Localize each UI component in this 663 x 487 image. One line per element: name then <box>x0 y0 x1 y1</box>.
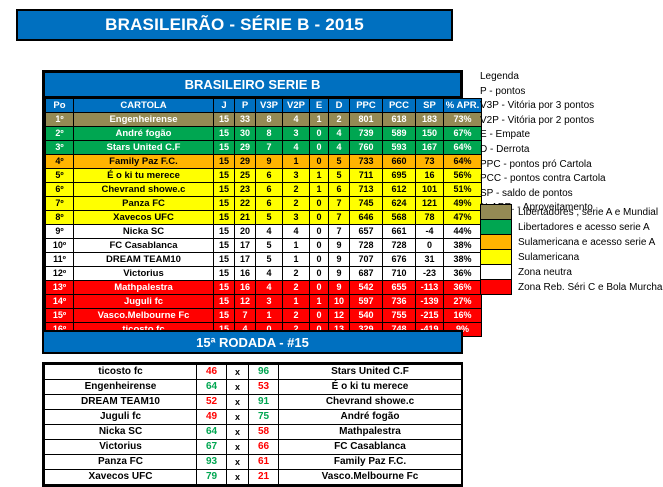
legend-color-swatch <box>481 220 512 235</box>
standings-cell-apr: 64% <box>444 155 482 169</box>
standings-cell-v3p: 4 <box>256 281 283 295</box>
legend-line: SP - saldo de pontos <box>480 187 660 202</box>
standings-cell-ppc: 733 <box>350 155 383 169</box>
standings-cell-sp: 183 <box>416 113 444 127</box>
standings-col-header: V2P <box>283 99 310 113</box>
standings-cell-v3p: 3 <box>256 295 283 309</box>
standings-cell-d: 4 <box>329 127 350 141</box>
standings-cell-ppc: 687 <box>350 267 383 281</box>
match-home-score: 52 <box>197 395 227 410</box>
standings-cell-pos: 1º <box>46 113 74 127</box>
legend-color-swatch <box>481 280 512 295</box>
standings-cell-apr: 73% <box>444 113 482 127</box>
legend-line: PPC - pontos pró Cartola <box>480 158 660 173</box>
table-row: 15ºVasco.Melbourne Fc15712012540755-2151… <box>46 309 482 323</box>
standings-cell-team: Victorius <box>74 267 214 281</box>
standings-cell-pos: 7º <box>46 197 74 211</box>
standings-cell-p: 33 <box>235 113 256 127</box>
standings-cell-j: 15 <box>214 183 235 197</box>
table-row: 9ºNicka SC15204407657661-444% <box>46 225 482 239</box>
standings-cell-team: Chevrand showe.c <box>74 183 214 197</box>
legend-key-row: Sulamericana e acesso serie A <box>481 235 663 250</box>
standings-cell-e: 1 <box>310 295 329 309</box>
standings-cell-pcc: 568 <box>383 211 416 225</box>
standings-cell-p: 29 <box>235 155 256 169</box>
standings-cell-p: 29 <box>235 141 256 155</box>
standings-cell-p: 7 <box>235 309 256 323</box>
match-home-score: 67 <box>197 440 227 455</box>
standings-cell-pcc: 695 <box>383 169 416 183</box>
round-banner: 15ª RODADA - #15 <box>42 330 463 354</box>
standings-cell-v2p: 2 <box>283 281 310 295</box>
match-home-team: Panza FC <box>45 455 197 470</box>
match-away-team: É o ki tu merece <box>279 380 462 395</box>
standings-cell-v3p: 6 <box>256 169 283 183</box>
legend-color-swatch <box>481 205 512 220</box>
standings-cell-d: 5 <box>329 155 350 169</box>
standings-cell-d: 7 <box>329 225 350 239</box>
standings-body: 1ºEngenheirense1533841280161818373%2ºAnd… <box>46 113 482 337</box>
standings-cell-e: 0 <box>310 141 329 155</box>
standings-cell-team: Xavecos UFC <box>74 211 214 225</box>
standings-cell-j: 15 <box>214 239 235 253</box>
match-away-score: 61 <box>249 455 279 470</box>
standings-cell-v3p: 5 <box>256 211 283 225</box>
standings-cell-pos: 4º <box>46 155 74 169</box>
standings-cell-ppc: 711 <box>350 169 383 183</box>
standings-cell-v2p: 4 <box>283 113 310 127</box>
standings-cell-j: 15 <box>214 309 235 323</box>
standings-cell-apr: 38% <box>444 239 482 253</box>
standings-cell-pcc: 728 <box>383 239 416 253</box>
standings-cell-e: 0 <box>310 197 329 211</box>
match-home-score: 64 <box>197 425 227 440</box>
standings-cell-ppc: 739 <box>350 127 383 141</box>
match-home-score: 93 <box>197 455 227 470</box>
match-separator: x <box>227 395 249 410</box>
legend-key-label: Sulamericana <box>511 250 662 265</box>
standings-cell-d: 2 <box>329 113 350 127</box>
standings-col-header: P <box>235 99 256 113</box>
legend-line: P - pontos <box>480 85 660 100</box>
standings-cell-v2p: 2 <box>283 309 310 323</box>
standings-cell-team: Engenheirense <box>74 113 214 127</box>
standings-cell-j: 15 <box>214 211 235 225</box>
legend-key-label: Libertadores e acesso serie A <box>511 220 662 235</box>
standings-cell-v3p: 9 <box>256 155 283 169</box>
standings-cell-team: André fogão <box>74 127 214 141</box>
standings-cell-pos: 13º <box>46 281 74 295</box>
standings-cell-ppc: 760 <box>350 141 383 155</box>
match-away-score: 53 <box>249 380 279 395</box>
standings-cell-pcc: 612 <box>383 183 416 197</box>
match-separator: x <box>227 440 249 455</box>
legend-line: PCC - pontos contra Cartola <box>480 172 660 187</box>
standings-cell-apr: 16% <box>444 309 482 323</box>
standings-cell-e: 0 <box>310 309 329 323</box>
standings-cell-j: 15 <box>214 295 235 309</box>
standings-cell-apr: 47% <box>444 211 482 225</box>
match-row: Nicka SC64x58Mathpalestra <box>45 425 462 440</box>
standings-cell-pos: 9º <box>46 225 74 239</box>
standings-cell-v3p: 6 <box>256 197 283 211</box>
table-row: 8ºXavecos UFC152153076465687847% <box>46 211 482 225</box>
table-row: 13ºMathpalestra15164209542655-11336% <box>46 281 482 295</box>
table-row: 1ºEngenheirense1533841280161818373% <box>46 113 482 127</box>
match-away-score: 21 <box>249 470 279 485</box>
standings-cell-pos: 6º <box>46 183 74 197</box>
table-row: 10ºFC Casablanca15175109728728038% <box>46 239 482 253</box>
standings-cell-pcc: 589 <box>383 127 416 141</box>
standings-cell-p: 22 <box>235 197 256 211</box>
standings-cell-sp: -139 <box>416 295 444 309</box>
standings-cell-d: 12 <box>329 309 350 323</box>
standings-cell-e: 0 <box>310 239 329 253</box>
standings-subtitle: BRASILEIRO SERIE B <box>45 73 460 98</box>
match-away-team: Vasco.Melbourne Fc <box>279 470 462 485</box>
standings-cell-pcc: 676 <box>383 253 416 267</box>
standings-cell-pcc: 660 <box>383 155 416 169</box>
standings-col-header: CARTOLA <box>74 99 214 113</box>
standings-cell-apr: 64% <box>444 141 482 155</box>
standings-cell-pos: 8º <box>46 211 74 225</box>
match-row: Xavecos UFC79x21Vasco.Melbourne Fc <box>45 470 462 485</box>
standings-cell-p: 21 <box>235 211 256 225</box>
standings-cell-apr: 51% <box>444 183 482 197</box>
standings-col-header: % APR. <box>444 99 482 113</box>
match-separator: x <box>227 425 249 440</box>
round-title: 15ª RODADA - #15 <box>196 335 309 350</box>
standings-cell-ppc: 646 <box>350 211 383 225</box>
legend-color-swatch <box>481 250 512 265</box>
standings-cell-pos: 14º <box>46 295 74 309</box>
standings-cell-pcc: 655 <box>383 281 416 295</box>
legend-line: V3P - Vitória por 3 pontos <box>480 99 660 114</box>
page-title: BRASILEIRÃO - SÉRIE B - 2015 <box>105 15 364 35</box>
standings-cell-apr: 38% <box>444 253 482 267</box>
standings-cell-d: 9 <box>329 253 350 267</box>
standings-cell-p: 16 <box>235 267 256 281</box>
legend-panel: Legenda P - pontosV3P - Vitória por 3 po… <box>480 70 660 216</box>
legend-title: Legenda <box>480 70 660 85</box>
standings-cell-team: Mathpalestra <box>74 281 214 295</box>
table-row: 14ºJuguli fc151231110597736-13927% <box>46 295 482 309</box>
standings-cell-sp: -23 <box>416 267 444 281</box>
standings-cell-v2p: 1 <box>283 295 310 309</box>
standings-cell-v2p: 3 <box>283 169 310 183</box>
standings-cell-d: 9 <box>329 281 350 295</box>
standings-cell-apr: 67% <box>444 127 482 141</box>
standings-cell-apr: 49% <box>444 197 482 211</box>
match-away-score: 75 <box>249 410 279 425</box>
match-separator: x <box>227 365 249 380</box>
match-away-score: 96 <box>249 365 279 380</box>
standings-cell-p: 23 <box>235 183 256 197</box>
legend-key-row: Libertadores e acesso serie A <box>481 220 663 235</box>
legend-color-swatch <box>481 265 512 280</box>
standings-col-header: D <box>329 99 350 113</box>
standings-cell-v3p: 6 <box>256 183 283 197</box>
standings-cell-sp: 121 <box>416 197 444 211</box>
standings-cell-d: 10 <box>329 295 350 309</box>
match-away-team: Family Paz F.C. <box>279 455 462 470</box>
match-row: Victorius67x66FC Casablanca <box>45 440 462 455</box>
match-away-team: Stars United C.F <box>279 365 462 380</box>
table-row: 5ºÉ o ki tu merece152563157116951656% <box>46 169 482 183</box>
standings-cell-d: 5 <box>329 169 350 183</box>
standings-cell-j: 15 <box>214 113 235 127</box>
legend-line: D - Derrota <box>480 143 660 158</box>
standings-cell-sp: 78 <box>416 211 444 225</box>
standings-cell-ppc: 713 <box>350 183 383 197</box>
standings-cell-v2p: 2 <box>283 183 310 197</box>
standings-cell-pos: 15º <box>46 309 74 323</box>
standings-cell-p: 17 <box>235 239 256 253</box>
standings-cell-v3p: 5 <box>256 239 283 253</box>
standings-cell-sp: 16 <box>416 169 444 183</box>
table-row: 3ºStars United C.F1529740476059316764% <box>46 141 482 155</box>
standings-cell-d: 9 <box>329 267 350 281</box>
standings-cell-ppc: 540 <box>350 309 383 323</box>
match-away-team: FC Casablanca <box>279 440 462 455</box>
standings-cell-p: 12 <box>235 295 256 309</box>
standings-cell-pcc: 593 <box>383 141 416 155</box>
standings-col-header: SP <box>416 99 444 113</box>
standings-col-header: Po <box>46 99 74 113</box>
standings-cell-v3p: 1 <box>256 309 283 323</box>
standings-cell-e: 0 <box>310 155 329 169</box>
match-separator: x <box>227 470 249 485</box>
standings-cell-p: 20 <box>235 225 256 239</box>
standings-cell-pcc: 624 <box>383 197 416 211</box>
standings-cell-e: 1 <box>310 113 329 127</box>
match-away-score: 58 <box>249 425 279 440</box>
legend-line: E - Empate <box>480 128 660 143</box>
standings-cell-sp: 31 <box>416 253 444 267</box>
standings-cell-pcc: 661 <box>383 225 416 239</box>
standings-cell-pcc: 618 <box>383 113 416 127</box>
standings-cell-apr: 36% <box>444 267 482 281</box>
standings-cell-sp: 0 <box>416 239 444 253</box>
standings-cell-v2p: 3 <box>283 127 310 141</box>
standings-cell-v2p: 4 <box>283 141 310 155</box>
standings-cell-e: 0 <box>310 211 329 225</box>
table-row: 2ºAndré fogão1530830473958915067% <box>46 127 482 141</box>
legend-key-label: Zona Reb. Séri C e Bola Murcha <box>511 280 662 295</box>
standings-cell-pos: 10º <box>46 239 74 253</box>
match-home-score: 79 <box>197 470 227 485</box>
legend-line: V2P - Vitória por 2 pontos <box>480 114 660 129</box>
standings-cell-j: 15 <box>214 225 235 239</box>
table-row: 4ºFamily Paz F.C.152991057336607364% <box>46 155 482 169</box>
standings-cell-team: Nicka SC <box>74 225 214 239</box>
standings-cell-v3p: 7 <box>256 141 283 155</box>
match-away-team: Chevrand showe.c <box>279 395 462 410</box>
standings-cell-j: 15 <box>214 281 235 295</box>
match-away-score: 91 <box>249 395 279 410</box>
table-row: 6ºChevrand showe.c1523621671361210151% <box>46 183 482 197</box>
standings-cell-team: Juguli fc <box>74 295 214 309</box>
legend-key-label: Zona neutra <box>511 265 662 280</box>
standings-cell-j: 15 <box>214 267 235 281</box>
standings-cell-team: É o ki tu merece <box>74 169 214 183</box>
match-away-score: 66 <box>249 440 279 455</box>
standings-cell-sp: -4 <box>416 225 444 239</box>
match-away-team: Mathpalestra <box>279 425 462 440</box>
table-row: 11ºDREAM TEAM10151751097076763138% <box>46 253 482 267</box>
standings-cell-p: 25 <box>235 169 256 183</box>
standings-cell-ppc: 728 <box>350 239 383 253</box>
match-home-team: DREAM TEAM10 <box>45 395 197 410</box>
match-row: DREAM TEAM1052x91Chevrand showe.c <box>45 395 462 410</box>
match-home-score: 46 <box>197 365 227 380</box>
standings-cell-ppc: 657 <box>350 225 383 239</box>
matches-table: ticosto fc46x96Stars United C.FEngenheir… <box>44 364 462 485</box>
standings-cell-team: FC Casablanca <box>74 239 214 253</box>
standings-cell-apr: 27% <box>444 295 482 309</box>
standings-cell-e: 0 <box>310 127 329 141</box>
standings-cell-team: Family Paz F.C. <box>74 155 214 169</box>
standings-cell-v3p: 4 <box>256 267 283 281</box>
legend-key-row: Zona neutra <box>481 265 663 280</box>
matches-panel: ticosto fc46x96Stars United C.FEngenheir… <box>42 362 463 487</box>
standings-cell-j: 15 <box>214 155 235 169</box>
standings-col-header: E <box>310 99 329 113</box>
standings-cell-apr: 56% <box>444 169 482 183</box>
standings-cell-pos: 11º <box>46 253 74 267</box>
legend-key-row: Zona Reb. Séri C e Bola Murcha <box>481 280 663 295</box>
match-home-team: Engenheirense <box>45 380 197 395</box>
standings-cell-d: 7 <box>329 197 350 211</box>
legend-color-key: Libertadores , serie A e MundialLibertad… <box>480 204 663 295</box>
standings-cell-v3p: 5 <box>256 253 283 267</box>
standings-col-header: PCC <box>383 99 416 113</box>
standings-cell-v2p: 2 <box>283 197 310 211</box>
table-row: 12ºVictorius15164209687710-2336% <box>46 267 482 281</box>
legend-color-swatch <box>481 235 512 250</box>
match-separator: x <box>227 380 249 395</box>
match-row: ticosto fc46x96Stars United C.F <box>45 365 462 380</box>
standings-cell-pos: 12º <box>46 267 74 281</box>
legend-key-label: Libertadores , serie A e Mundial <box>511 205 662 220</box>
match-home-score: 49 <box>197 410 227 425</box>
standings-cell-d: 4 <box>329 141 350 155</box>
standings-panel: BRASILEIRO SERIE B PoCARTOLAJPV3PV2PEDPP… <box>42 70 463 340</box>
standings-cell-pcc: 755 <box>383 309 416 323</box>
standings-cell-pos: 5º <box>46 169 74 183</box>
standings-cell-e: 1 <box>310 169 329 183</box>
standings-cell-e: 0 <box>310 253 329 267</box>
standings-cell-sp: -113 <box>416 281 444 295</box>
standings-cell-pos: 3º <box>46 141 74 155</box>
match-home-score: 64 <box>197 380 227 395</box>
standings-cell-e: 0 <box>310 225 329 239</box>
match-home-team: ticosto fc <box>45 365 197 380</box>
standings-cell-v2p: 2 <box>283 267 310 281</box>
standings-cell-sp: -215 <box>416 309 444 323</box>
standings-cell-e: 0 <box>310 281 329 295</box>
match-home-team: Xavecos UFC <box>45 470 197 485</box>
standings-col-header: J <box>214 99 235 113</box>
match-home-team: Nicka SC <box>45 425 197 440</box>
standings-cell-v2p: 4 <box>283 225 310 239</box>
standings-cell-p: 30 <box>235 127 256 141</box>
standings-cell-p: 16 <box>235 281 256 295</box>
match-away-team: André fogão <box>279 410 462 425</box>
standings-cell-ppc: 542 <box>350 281 383 295</box>
standings-cell-v2p: 3 <box>283 211 310 225</box>
standings-cell-sp: 73 <box>416 155 444 169</box>
standings-cell-apr: 44% <box>444 225 482 239</box>
standings-cell-d: 7 <box>329 211 350 225</box>
standings-cell-j: 15 <box>214 253 235 267</box>
standings-table: PoCARTOLAJPV3PV2PEDPPCPCCSP% APR. 1ºEnge… <box>45 98 482 337</box>
standings-cell-p: 17 <box>235 253 256 267</box>
match-row: Juguli fc49x75André fogão <box>45 410 462 425</box>
standings-header-row: PoCARTOLAJPV3PV2PEDPPCPCCSP% APR. <box>46 99 482 113</box>
page-title-banner: BRASILEIRÃO - SÉRIE B - 2015 <box>16 9 453 41</box>
standings-cell-ppc: 597 <box>350 295 383 309</box>
standings-cell-j: 15 <box>214 127 235 141</box>
standings-cell-v2p: 1 <box>283 253 310 267</box>
standings-cell-ppc: 745 <box>350 197 383 211</box>
standings-cell-team: Vasco.Melbourne Fc <box>74 309 214 323</box>
standings-cell-team: Stars United C.F <box>74 141 214 155</box>
legend-key-row: Sulamericana <box>481 250 663 265</box>
match-home-team: Victorius <box>45 440 197 455</box>
standings-cell-d: 9 <box>329 239 350 253</box>
standings-cell-sp: 150 <box>416 127 444 141</box>
standings-cell-pos: 2º <box>46 127 74 141</box>
standings-cell-j: 15 <box>214 141 235 155</box>
standings-cell-ppc: 801 <box>350 113 383 127</box>
standings-col-header: PPC <box>350 99 383 113</box>
match-row: Engenheirense64x53É o ki tu merece <box>45 380 462 395</box>
standings-cell-e: 1 <box>310 183 329 197</box>
standings-cell-v3p: 8 <box>256 127 283 141</box>
standings-cell-team: DREAM TEAM10 <box>74 253 214 267</box>
standings-cell-pcc: 736 <box>383 295 416 309</box>
match-row: Panza FC93x61Family Paz F.C. <box>45 455 462 470</box>
standings-cell-sp: 101 <box>416 183 444 197</box>
standings-cell-j: 15 <box>214 197 235 211</box>
standings-cell-sp: 167 <box>416 141 444 155</box>
match-home-team: Juguli fc <box>45 410 197 425</box>
standings-col-header: V3P <box>256 99 283 113</box>
standings-cell-v3p: 8 <box>256 113 283 127</box>
standings-cell-pcc: 710 <box>383 267 416 281</box>
standings-cell-v3p: 4 <box>256 225 283 239</box>
standings-cell-v2p: 1 <box>283 239 310 253</box>
standings-cell-team: Panza FC <box>74 197 214 211</box>
standings-cell-apr: 36% <box>444 281 482 295</box>
legend-key-row: Libertadores , serie A e Mundial <box>481 205 663 220</box>
standings-cell-e: 0 <box>310 267 329 281</box>
standings-cell-v2p: 1 <box>283 155 310 169</box>
standings-cell-ppc: 707 <box>350 253 383 267</box>
table-row: 7ºPanza FC1522620774562412149% <box>46 197 482 211</box>
match-separator: x <box>227 410 249 425</box>
standings-cell-d: 6 <box>329 183 350 197</box>
match-separator: x <box>227 455 249 470</box>
legend-key-label: Sulamericana e acesso serie A <box>511 235 662 250</box>
standings-cell-j: 15 <box>214 169 235 183</box>
